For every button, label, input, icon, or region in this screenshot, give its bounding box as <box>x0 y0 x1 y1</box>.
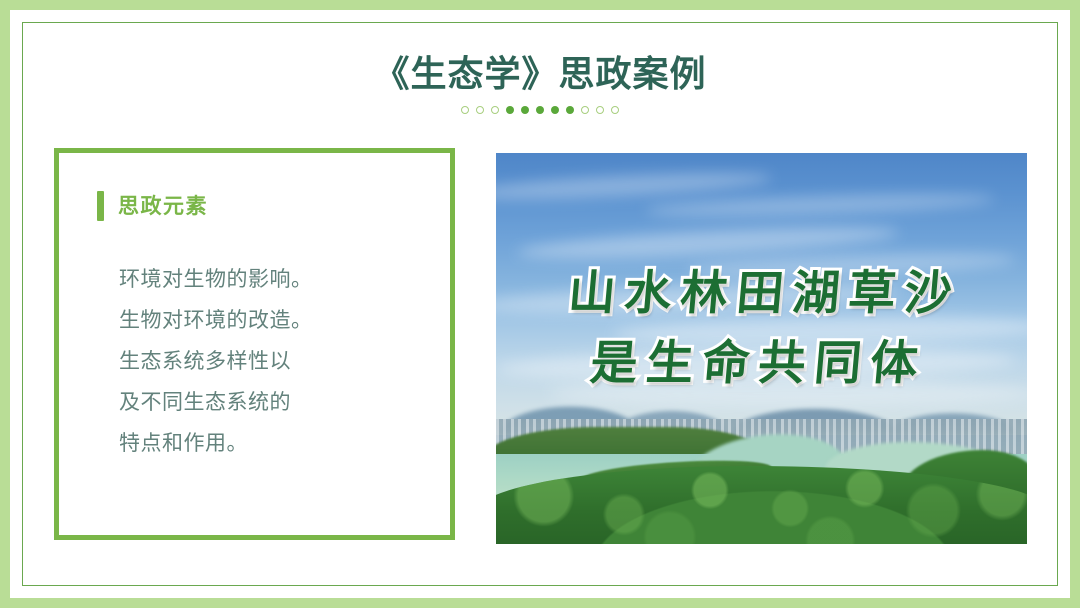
caption-line: 山水林田湖草沙 <box>496 259 1027 329</box>
divider-dot-solid <box>551 106 559 114</box>
ideological-elements-card: 思政元素 环境对生物的影响。 生物对环境的改造。 生态系统多样性以 及不同生态系… <box>54 148 455 540</box>
divider-dot-hollow <box>611 106 619 114</box>
card-body-text: 环境对生物的影响。 生物对环境的改造。 生态系统多样性以 及不同生态系统的 特点… <box>119 259 424 464</box>
slide-frame: 《生态学》思政案例 <box>0 0 1080 608</box>
forest-canopy-texture <box>496 466 1027 544</box>
slide-white-margin: 《生态学》思政案例 <box>10 10 1070 598</box>
body-line: 生物对环境的改造。 <box>119 300 424 341</box>
photo-caption: 山水林田湖草沙 是生命共同体 <box>496 259 1027 398</box>
divider-dot-solid <box>506 106 514 114</box>
heading-accent-bar <box>97 191 104 221</box>
caption-line: 是生命共同体 <box>496 328 1027 398</box>
divider-dot-solid <box>566 106 574 114</box>
divider-dot-hollow <box>461 106 469 114</box>
card-heading-label: 思政元素 <box>118 196 208 217</box>
slide-inner-border: 《生态学》思政案例 <box>22 22 1058 586</box>
divider-dot-hollow <box>596 106 604 114</box>
title-block: 《生态学》思政案例 <box>23 53 1057 114</box>
divider-dot-solid <box>536 106 544 114</box>
body-line: 特点和作用。 <box>119 423 424 464</box>
body-line: 生态系统多样性以 <box>119 341 424 382</box>
card-heading: 思政元素 <box>97 191 424 221</box>
dot-divider <box>23 106 1057 114</box>
body-line: 环境对生物的影响。 <box>119 259 424 300</box>
body-line: 及不同生态系统的 <box>119 382 424 423</box>
divider-dot-hollow <box>581 106 589 114</box>
divider-dot-hollow <box>491 106 499 114</box>
divider-dot-hollow <box>476 106 484 114</box>
page-title: 《生态学》思政案例 <box>23 53 1057 96</box>
divider-dot-solid <box>521 106 529 114</box>
landscape-photo: 山水林田湖草沙 是生命共同体 <box>496 153 1027 544</box>
